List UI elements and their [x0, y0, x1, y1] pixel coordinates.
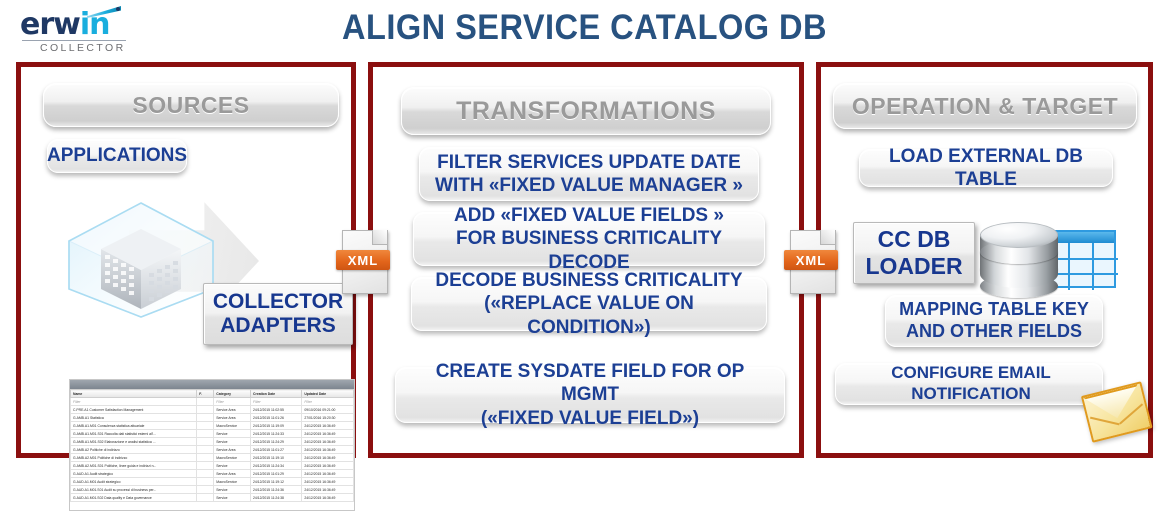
table-cell: G.AMB.A1.M01 Consulenza statistica attua…	[71, 422, 197, 430]
table-titlebar	[70, 380, 354, 389]
table-cell: G.AMB.A2.M01 Politiche di indirizzo	[71, 454, 197, 462]
table-cell: G.AMB.A1.M01.S01 Raccolta dati statistic…	[71, 430, 197, 438]
transformation-3-line2: («REPLACE VALUE ON CONDITION»)	[422, 292, 756, 338]
cc-db-loader-line2: LOADER	[865, 253, 962, 279]
table-column-header[interactable]: Name	[71, 390, 197, 398]
table-filter-cell[interactable]: Filter	[302, 398, 354, 406]
transformations-header: TRANSFORMATIONS	[401, 87, 771, 135]
table-column-header[interactable]: F.	[197, 390, 214, 398]
table-cell: G.AUD.A1.M01.S02 Data quality e Data gov…	[71, 494, 197, 502]
collector-adapters-line2: ADAPTERS	[220, 314, 336, 337]
table-row[interactable]: G.AUD.A1 Audit strategicoService Area24/…	[71, 470, 354, 478]
transformation-2-line2: FOR BUSINESS CRITICALITY DECODE	[424, 227, 754, 273]
table-cell: G.AMB.A1.M01.S02 Elaborazione e analisi …	[71, 438, 197, 446]
table-filter-cell[interactable]: Filter	[251, 398, 302, 406]
table-cell: 24/12/2015 16:36:49	[302, 422, 354, 430]
table-cell	[197, 414, 214, 422]
table-cell: Service Area	[214, 446, 251, 454]
transformation-1-line2: WITH «FIXED VALUE MANAGER »	[435, 174, 743, 197]
table-cell: 24/12/2015 16:36:49	[302, 470, 354, 478]
table-row[interactable]: G.AMB.A2 Politiche di indirizzoService A…	[71, 446, 354, 454]
table-cell: MacroService	[214, 478, 251, 486]
table-cell: 24/12/2015 16:36:49	[302, 454, 354, 462]
table-cell: 24/12/2015 11:01:29	[251, 470, 302, 478]
table-cell: 24/12/2015 11:19:10	[251, 454, 302, 462]
database-cylinder-icon	[980, 222, 1058, 300]
table-cell: 27/01/2016 15:20:30	[302, 414, 354, 422]
operation-target-header: OPERATION & TARGET	[833, 83, 1137, 129]
table-row[interactable]: C.PRE.A1 Customer Satisfaction Managemen…	[71, 406, 354, 414]
transformation-item-create-sysdate-field[interactable]: CREATE SYSDATE FIELD FOR OP MGMT («FIXED…	[395, 367, 785, 423]
table-header-row: NameF.CategoryCreation DateUpdated Date	[71, 390, 354, 398]
table-filter-cell[interactable]	[197, 398, 214, 406]
table-cell: 09/10/2016 09:21:00	[302, 406, 354, 414]
table-column-header[interactable]: Category	[214, 390, 251, 398]
table-row[interactable]: G.AUD.A1.M01.S01 Audit su processi di bu…	[71, 486, 354, 494]
table-cell: Service Area	[214, 414, 251, 422]
cc-db-loader-button[interactable]: CC DB LOADER	[853, 222, 975, 284]
table-cell	[197, 470, 214, 478]
mapping-line2: AND OTHER FIELDS	[899, 321, 1089, 343]
table-cell: 24/12/2015 16:36:49	[302, 494, 354, 502]
table-cell: MacroService	[214, 454, 251, 462]
table-cell: 24/12/2015 11:19:09	[251, 422, 302, 430]
cc-db-loader-line1: CC DB	[878, 226, 951, 252]
xml-file-icon-sources: XML	[336, 228, 390, 294]
xml-page-fold	[372, 230, 387, 245]
table-cell: Service	[214, 494, 251, 502]
table-cell	[197, 422, 214, 430]
transformation-item-add-fixed-value-fields[interactable]: ADD «FIXED VALUE FIELDS » FOR BUSINESS C…	[413, 212, 765, 266]
table-cell: 24/12/2015 16:36:49	[302, 430, 354, 438]
source-data-table: NameF.CategoryCreation DateUpdated Date …	[69, 379, 355, 511]
sources-header: SOURCES	[43, 83, 339, 127]
table-cell: 24/12/2015 16:36:49	[302, 486, 354, 494]
table-cell: Service	[214, 438, 251, 446]
xml-page-fold	[820, 230, 835, 245]
table-cell: 24/12/2015 11:19:12	[251, 478, 302, 486]
table-column-header[interactable]: Updated Date	[302, 390, 354, 398]
table-cell: Service	[214, 486, 251, 494]
table-cell	[197, 486, 214, 494]
table-cell: G.AMB.A1 Statistica	[71, 414, 197, 422]
table-cell: 24/12/2015 16:36:49	[302, 446, 354, 454]
table-cell: 24/12/2015 11:24:33	[251, 430, 302, 438]
table-grid: NameF.CategoryCreation DateUpdated Date …	[70, 389, 354, 502]
table-cell: 24/12/2015 16:36:49	[302, 438, 354, 446]
transformation-3-line1: DECODE BUSINESS CRITICALITY	[422, 269, 756, 292]
panel-transformations: TRANSFORMATIONS FILTER SERVICES UPDATE D…	[368, 62, 804, 458]
transformation-1-line1: FILTER SERVICES UPDATE DATE	[435, 151, 743, 174]
table-column-header[interactable]: Creation Date	[251, 390, 302, 398]
collector-adapters-line1: COLLECTOR	[213, 290, 343, 313]
table-cell	[197, 454, 214, 462]
configure-email-notification-button[interactable]: CONFIGURE EMAIL NOTIFICATION	[835, 363, 1103, 405]
table-cell: 24/12/2015 11:01:27	[251, 446, 302, 454]
table-filter-cell[interactable]: Filter	[214, 398, 251, 406]
xml-label-band: XML	[336, 250, 390, 270]
xml-file-icon-target: XML	[784, 228, 838, 294]
transformation-2-line1: ADD «FIXED VALUE FIELDS »	[424, 204, 754, 227]
table-cell	[197, 438, 214, 446]
transformation-4-line2: («FIXED VALUE FIELD»)	[406, 407, 774, 430]
table-cell: MacroService	[214, 422, 251, 430]
table-row[interactable]: G.AMB.A1.M01.S02 Elaborazione e analisi …	[71, 438, 354, 446]
table-cell	[197, 478, 214, 486]
table-row[interactable]: G.AMB.A1.M01.S01 Raccolta dati statistic…	[71, 430, 354, 438]
table-row[interactable]: G.AUD.A1.M01.S02 Data quality e Data gov…	[71, 494, 354, 502]
transformation-item-filter-services[interactable]: FILTER SERVICES UPDATE DATE WITH «FIXED …	[419, 147, 759, 201]
table-cell: Service Area	[214, 470, 251, 478]
table-cell: 24/12/2015 11:02:55	[251, 406, 302, 414]
table-row[interactable]: G.AUD.A1.M01 Audit strategicoMacroServic…	[71, 478, 354, 486]
transformation-4-line1: CREATE SYSDATE FIELD FOR OP MGMT	[406, 360, 774, 406]
table-filter-cell[interactable]: Filter	[71, 398, 197, 406]
table-cell	[197, 446, 214, 454]
table-filter-row[interactable]: FilterFilterFilterFilter	[71, 398, 354, 406]
collector-adapters-button[interactable]: COLLECTOR ADAPTERS	[203, 283, 353, 345]
table-row[interactable]: G.AMB.A1.M01 Consulenza statistica attua…	[71, 422, 354, 430]
applications-button[interactable]: APPLICATIONS	[47, 139, 187, 173]
table-cell: 24/12/2015 11:24:38	[251, 494, 302, 502]
table-row[interactable]: G.AMB.A2.M01 Politiche di indirizzoMacro…	[71, 454, 354, 462]
database-table-icon	[980, 218, 1116, 304]
table-cell	[197, 430, 214, 438]
table-cell	[197, 406, 214, 414]
page-title: ALIGN SERVICE CATALOG DB	[41, 8, 1128, 48]
table-cell: G.AUD.A1.M01 Audit strategico	[71, 478, 197, 486]
table-row[interactable]: G.AMB.A1 StatisticaService Area24/12/201…	[71, 414, 354, 422]
load-external-db-table-button[interactable]: LOAD EXTERNAL DB TABLE	[859, 149, 1113, 187]
applications-cube-icon	[61, 197, 221, 322]
table-cell: G.AMB.A2 Politiche di indirizzo	[71, 446, 197, 454]
panel-sources: SOURCES APPLICATIONS	[16, 62, 356, 458]
table-cell: 24/12/2015 11:01:26	[251, 414, 302, 422]
table-cell: G.AUD.A1 Audit strategico	[71, 470, 197, 478]
table-cell: 24/12/2015 11:24:29	[251, 438, 302, 446]
table-cell: 24/12/2015 11:24:36	[251, 486, 302, 494]
table-cell: C.PRE.A1 Customer Satisfaction Managemen…	[71, 406, 197, 414]
table-cell: Service	[214, 430, 251, 438]
table-cell	[197, 494, 214, 502]
transformation-item-decode-business-criticality[interactable]: DECODE BUSINESS CRITICALITY («REPLACE VA…	[411, 277, 767, 331]
xml-label-band: XML	[784, 250, 838, 270]
table-cell: Service Area	[214, 406, 251, 414]
table-cell: G.AUD.A1.M01.S01 Audit su processi di bu…	[71, 486, 197, 494]
table-cell: 24/12/2015 16:36:49	[302, 478, 354, 486]
